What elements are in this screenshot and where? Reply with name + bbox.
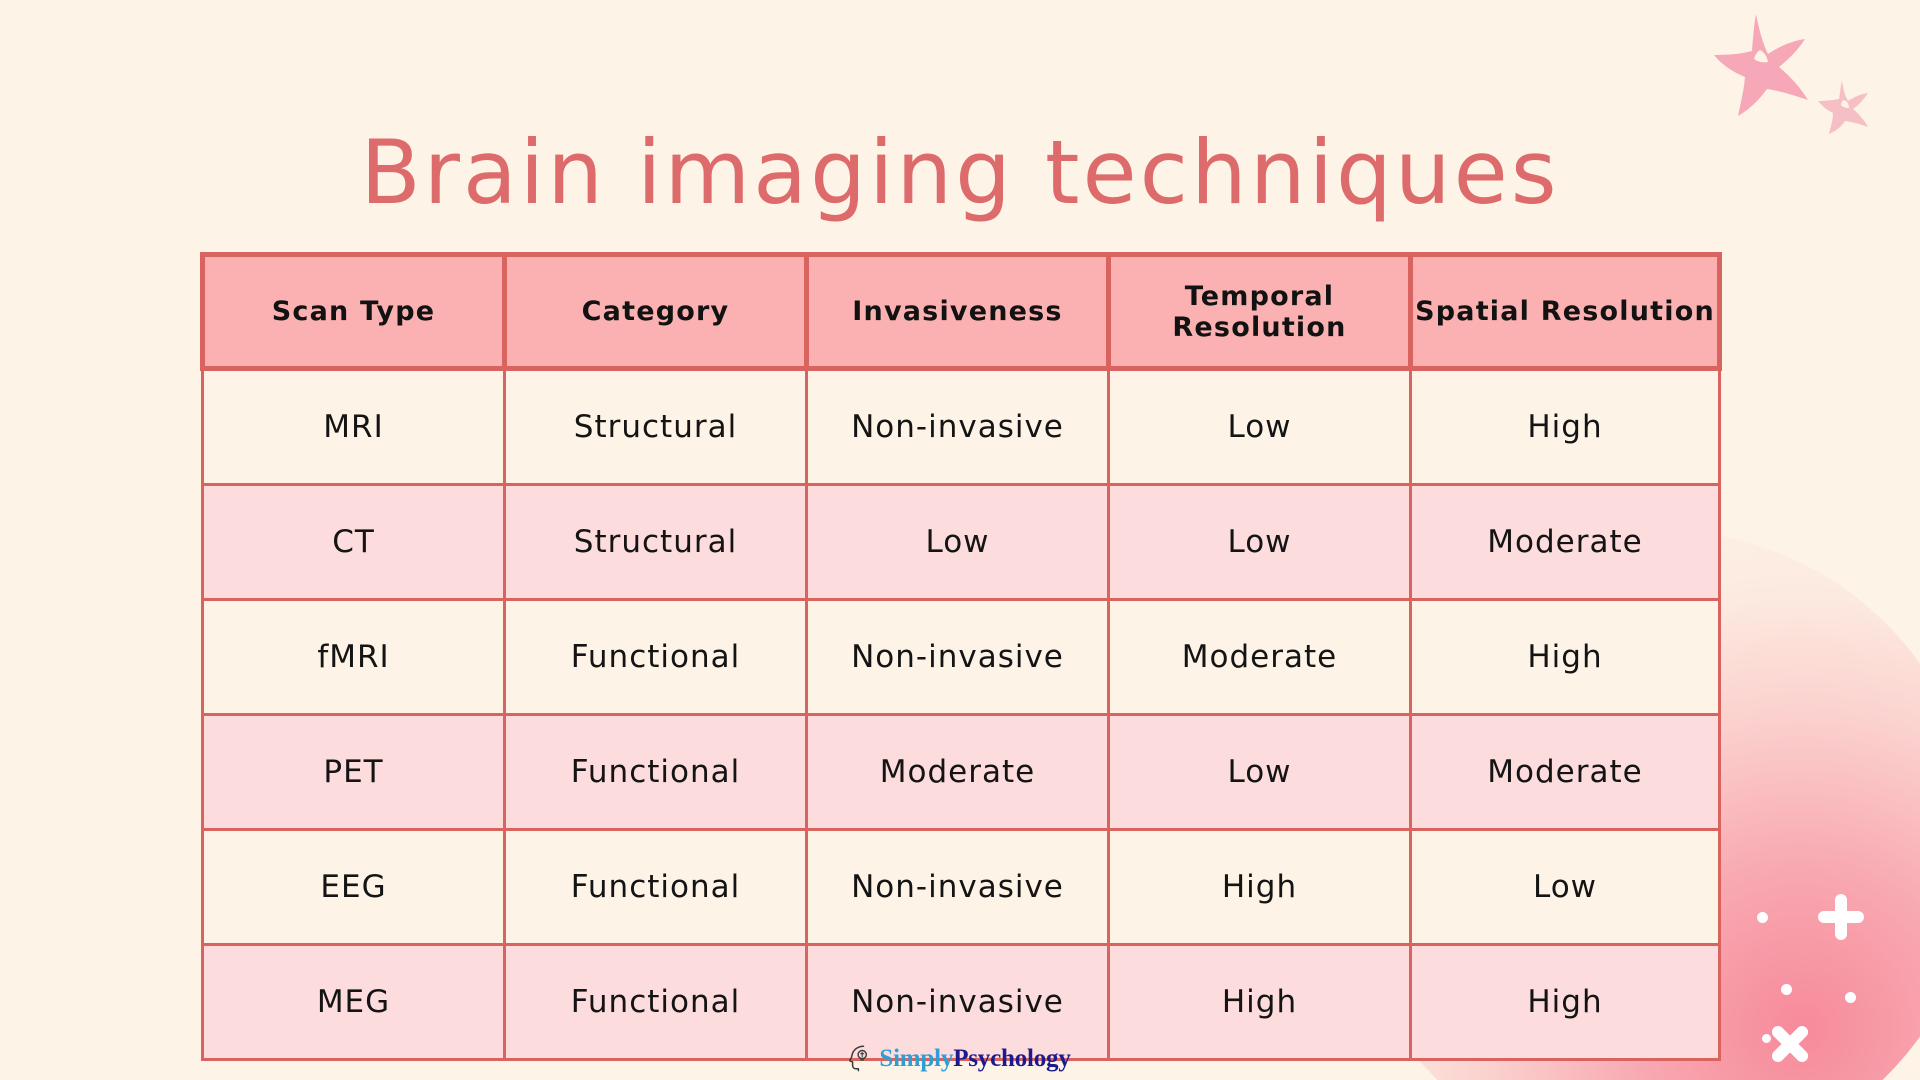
cell-temporal-resolution: Low (1109, 485, 1411, 600)
column-header-spatial-resolution: Spatial Resolution (1411, 255, 1720, 369)
cell-invasiveness: Non-invasive (807, 369, 1109, 485)
column-header-scan-type: Scan Type (203, 255, 505, 369)
cell-invasiveness: Moderate (807, 715, 1109, 830)
column-header-invasiveness: Invasiveness (807, 255, 1109, 369)
cell-spatial-resolution: High (1411, 369, 1720, 485)
cell-scan-type: MEG (203, 945, 505, 1060)
cell-spatial-resolution: Moderate (1411, 485, 1720, 600)
head-lightbulb-icon (849, 1044, 875, 1072)
slide-canvas: Brain imaging techniques Scan Type Categ… (0, 0, 1920, 1080)
dot-icon (1757, 912, 1768, 923)
column-header-temporal-resolution: Temporal Resolution (1109, 255, 1411, 369)
column-header-category: Category (505, 255, 807, 369)
cell-scan-type: MRI (203, 369, 505, 485)
cell-temporal-resolution: Low (1109, 369, 1411, 485)
cell-spatial-resolution: Moderate (1411, 715, 1720, 830)
cell-category: Structural (505, 485, 807, 600)
cell-spatial-resolution: High (1411, 600, 1720, 715)
brand-simply: Simply (879, 1045, 953, 1072)
star-icon (1712, 10, 1824, 118)
cell-temporal-resolution: High (1109, 945, 1411, 1060)
cell-invasiveness: Low (807, 485, 1109, 600)
table-row: fMRI Functional Non-invasive Moderate Hi… (203, 600, 1720, 715)
cell-scan-type: PET (203, 715, 505, 830)
cell-category: Structural (505, 369, 807, 485)
cell-invasiveness: Non-invasive (807, 945, 1109, 1060)
table-row: EEG Functional Non-invasive High Low (203, 830, 1720, 945)
table-row: MRI Structural Non-invasive Low High (203, 369, 1720, 485)
table-header-row: Scan Type Category Invasiveness Temporal… (203, 255, 1720, 369)
cell-temporal-resolution: High (1109, 830, 1411, 945)
cell-category: Functional (505, 945, 807, 1060)
cell-temporal-resolution: Moderate (1109, 600, 1411, 715)
cell-invasiveness: Non-invasive (807, 600, 1109, 715)
cell-invasiveness: Non-invasive (807, 830, 1109, 945)
cell-category: Functional (505, 715, 807, 830)
cell-category: Functional (505, 830, 807, 945)
cell-spatial-resolution: High (1411, 945, 1720, 1060)
table-row: PET Functional Moderate Low Moderate (203, 715, 1720, 830)
cell-scan-type: EEG (203, 830, 505, 945)
dot-icon (1845, 992, 1856, 1003)
plus-icon (1818, 894, 1864, 940)
brand-wordmark: SimplyPsychology (879, 1046, 1070, 1071)
cell-temporal-resolution: Low (1109, 715, 1411, 830)
page-title: Brain imaging techniques (0, 121, 1920, 224)
brand-psychology: Psychology (953, 1045, 1070, 1072)
dot-icon (1781, 984, 1792, 995)
table-row: MEG Functional Non-invasive High High (203, 945, 1720, 1060)
cell-spatial-resolution: Low (1411, 830, 1720, 945)
cell-scan-type: fMRI (203, 600, 505, 715)
brain-imaging-techniques-table: Scan Type Category Invasiveness Temporal… (200, 252, 1717, 1061)
cell-category: Functional (505, 600, 807, 715)
table-row: CT Structural Low Low Moderate (203, 485, 1720, 600)
brand-logo[interactable]: SimplyPsychology (0, 1044, 1920, 1072)
cell-scan-type: CT (203, 485, 505, 600)
